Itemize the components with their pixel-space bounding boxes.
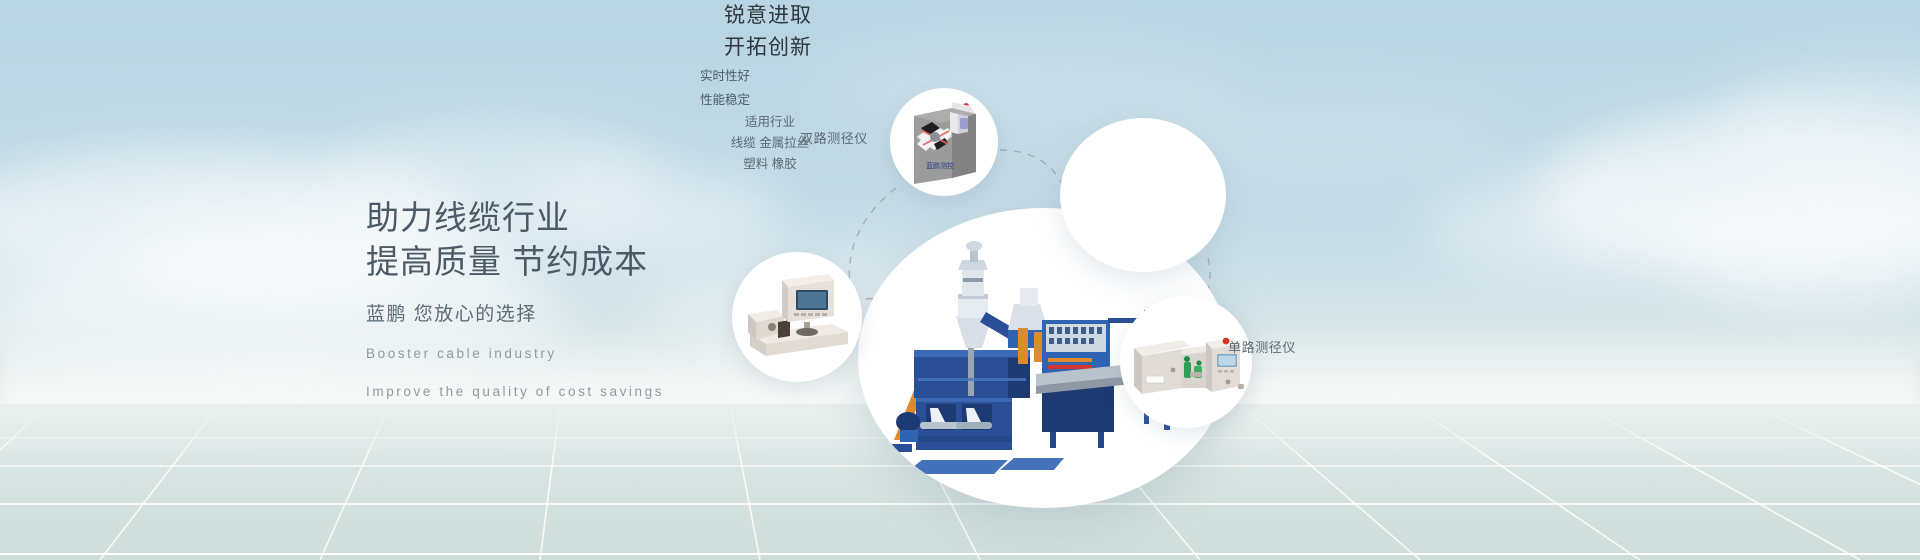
dual-axis-gauge-illustration: 蓝鹏测控 (890, 88, 998, 196)
bubble-slogan (1060, 118, 1226, 272)
banner-stage: 助力线缆行业 提高质量 节约成本 蓝鹏 您放心的选择 Booster cable… (0, 0, 1920, 560)
bubble-industry-device (732, 252, 862, 382)
label-single-gauge: 单路测径仪 (1228, 337, 1296, 358)
industry-device-illustration (732, 252, 862, 382)
bubble-dual-gauge: 蓝鹏测控 (890, 88, 998, 196)
label-dual-gauge: 双路测径仪 (800, 128, 868, 149)
device-brand-mark: 蓝鹏测控 (926, 161, 954, 170)
single-axis-gauge-illustration (1120, 296, 1252, 428)
product-composition: 蓝鹏测控 (700, 0, 1920, 560)
bubble-single-gauge (1120, 296, 1252, 428)
